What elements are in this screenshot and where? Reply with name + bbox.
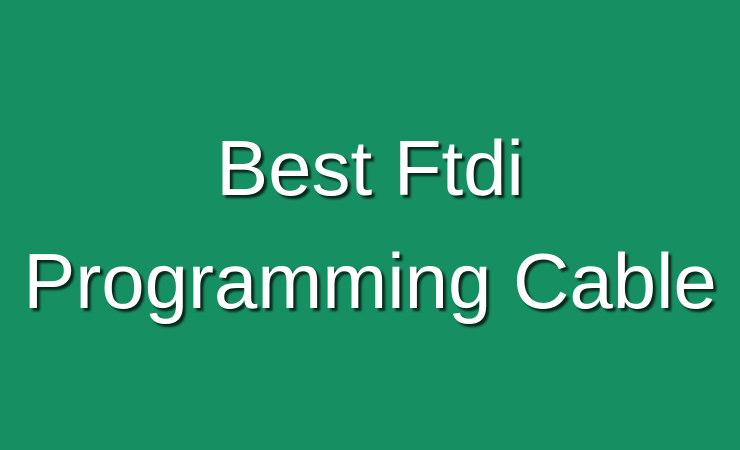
title-line-2: Programming Cable bbox=[0, 225, 740, 338]
title-line-1: Best Ftdi bbox=[0, 112, 740, 225]
page-title: Best Ftdi Programming Cable bbox=[0, 112, 740, 338]
banner-card: Best Ftdi Programming Cable bbox=[0, 0, 740, 450]
